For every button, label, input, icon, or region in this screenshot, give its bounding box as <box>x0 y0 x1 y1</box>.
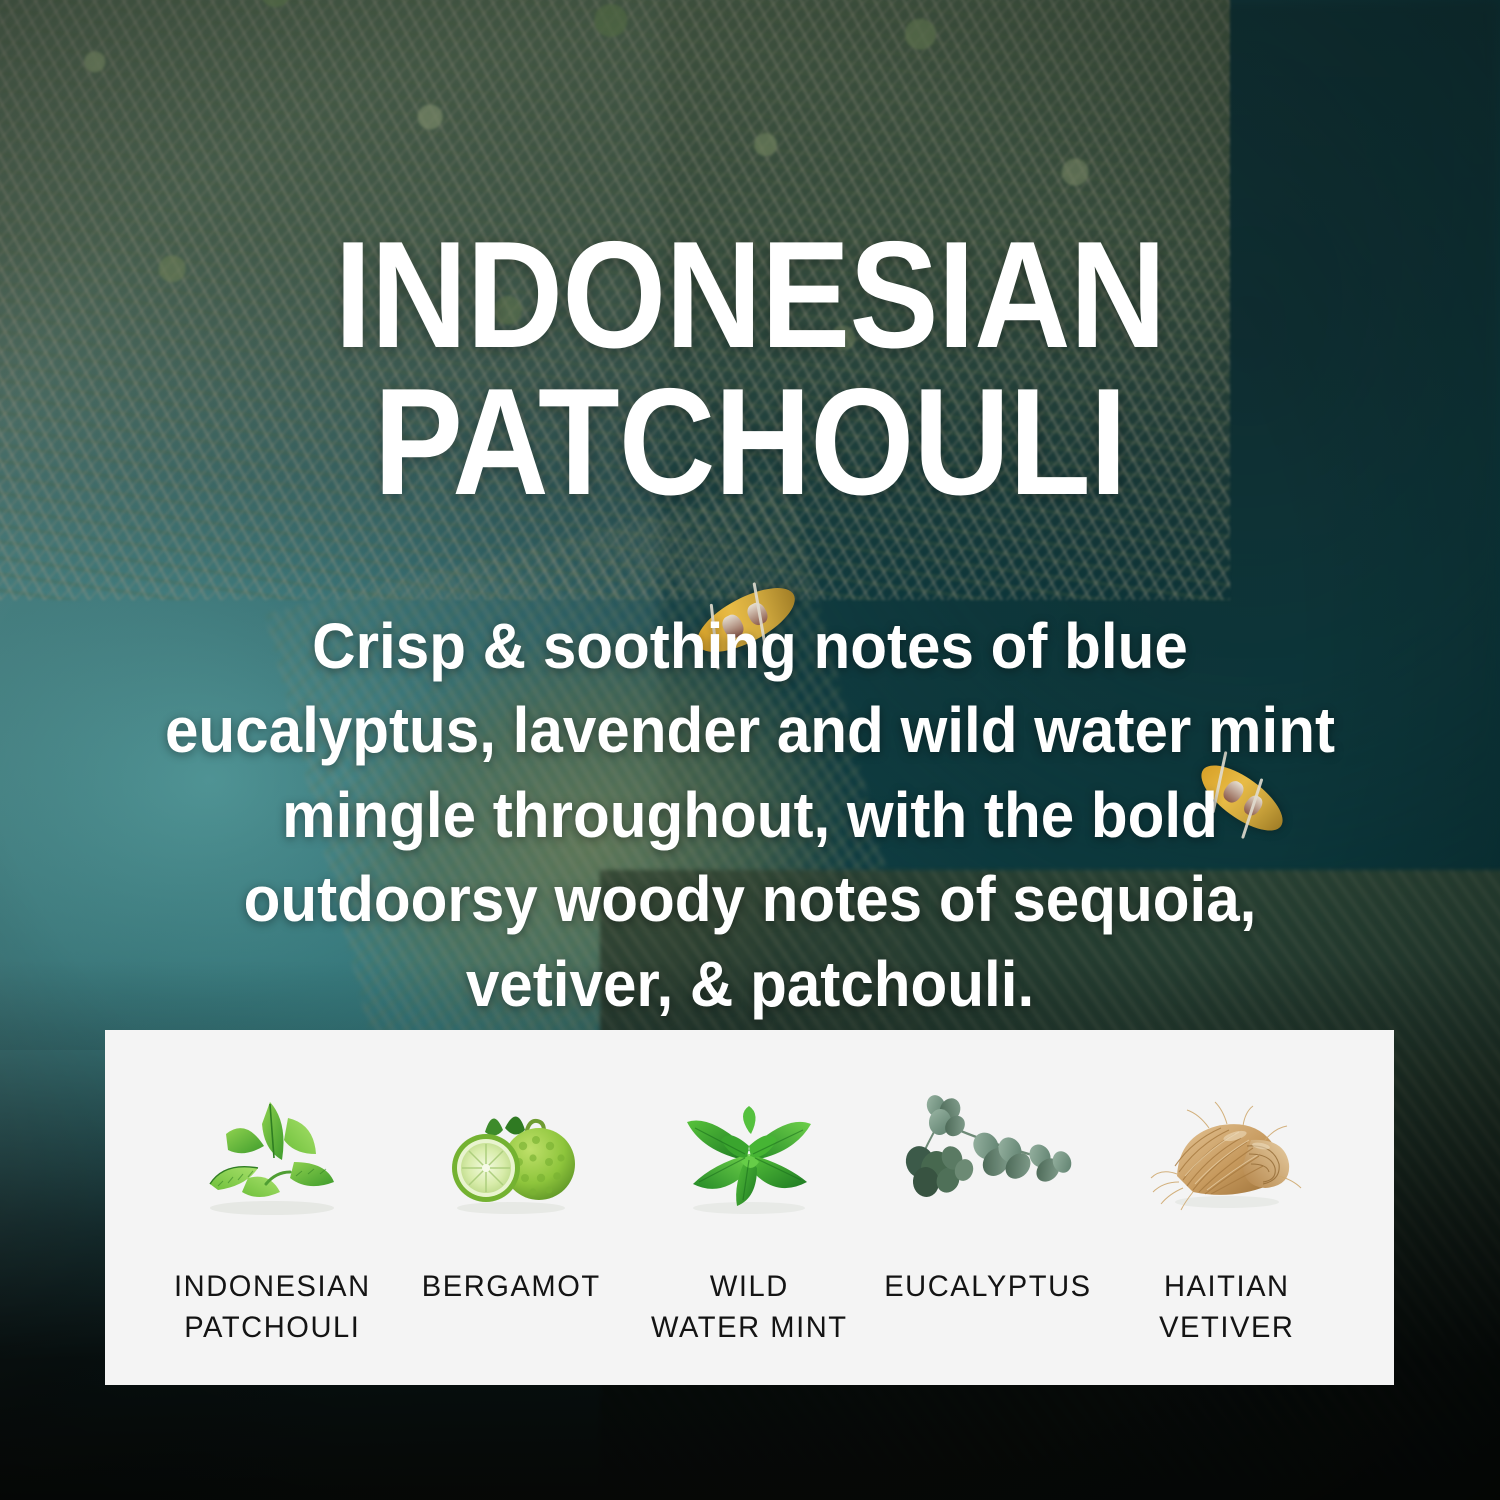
eucalyptus-sprig-icon <box>900 1088 1076 1220</box>
ingredient-item-vetiver: HAITIAN VETIVER <box>1107 1088 1346 1349</box>
mint-leaves-icon <box>661 1088 837 1220</box>
content-layer: INDONESIAN PATCHOULI Crisp & soothing no… <box>0 0 1500 1500</box>
ingredient-item-mint: WILD WATER MINT <box>630 1088 869 1349</box>
bergamot-fruit-icon <box>423 1088 599 1220</box>
ingredient-label: EUCALYPTUS <box>884 1266 1091 1307</box>
page-title: INDONESIAN PATCHOULI <box>90 222 1410 517</box>
ingredient-label: WILD WATER MINT <box>651 1266 848 1349</box>
product-scent-card: INDONESIAN PATCHOULI Crisp & soothing no… <box>0 0 1500 1500</box>
ingredient-panel: INDONESIAN PATCHOULI <box>105 1030 1394 1385</box>
ingredient-item-eucalyptus: EUCALYPTUS <box>869 1088 1108 1307</box>
ingredient-item-patchouli: INDONESIAN PATCHOULI <box>153 1088 392 1349</box>
headline-line-2: PATCHOULI <box>169 369 1331 516</box>
scent-description: Crisp & soothing notes of blue eucalyptu… <box>45 604 1455 1026</box>
ingredient-item-bergamot: BERGAMOT <box>392 1088 631 1307</box>
headline-line-1: INDONESIAN <box>335 210 1166 380</box>
ingredient-label: BERGAMOT <box>421 1266 600 1307</box>
ingredient-label: HAITIAN VETIVER <box>1159 1266 1294 1349</box>
vetiver-roots-icon <box>1139 1088 1315 1220</box>
patchouli-leaves-icon <box>184 1088 360 1220</box>
ingredient-label: INDONESIAN PATCHOULI <box>174 1266 371 1349</box>
